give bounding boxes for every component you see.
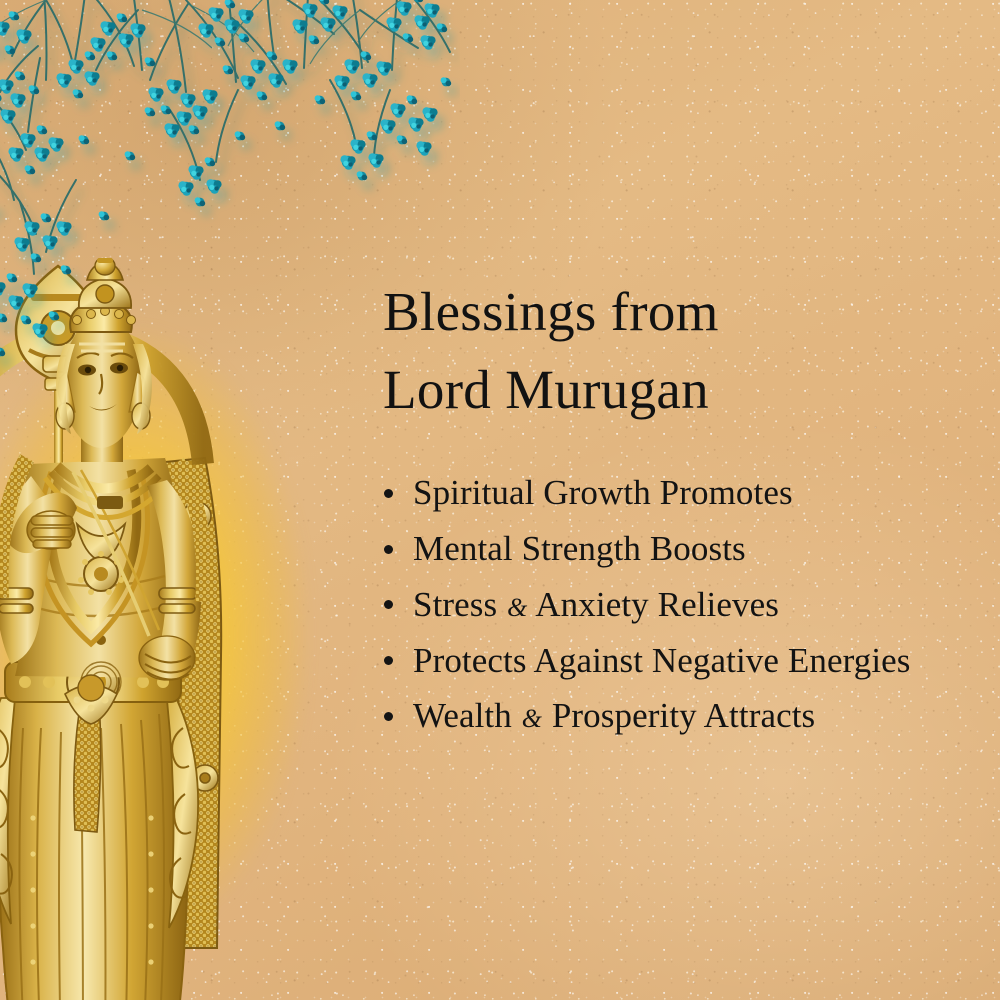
benefit-text-post: Prosperity Attracts: [543, 696, 815, 735]
bullet-icon: [384, 656, 393, 665]
benefit-text-post: Anxiety Relieves: [528, 585, 779, 624]
text-block: Blessings from Lord Murugan Spiritual Gr…: [383, 236, 943, 746]
bullet-icon: [384, 600, 393, 609]
ampersand-glyph: [911, 649, 913, 678]
page-title: Blessings from Lord Murugan: [383, 273, 943, 429]
ampersand-glyph: &: [506, 593, 528, 622]
bullet-icon: [384, 545, 393, 554]
list-item: Spiritual Growth Promotes: [383, 467, 943, 520]
ampersand-glyph: [793, 481, 795, 510]
benefit-text-pre: Mental Strength Boosts: [413, 529, 746, 568]
list-item: Mental Strength Boosts: [383, 523, 943, 576]
benefit-text-pre: Wealth: [413, 696, 521, 735]
list-item: Protects Against Negative Energies: [383, 635, 943, 688]
title-line-2: Lord Murugan: [383, 351, 943, 429]
benefit-text-pre: Stress: [413, 585, 506, 624]
title-line-1: Blessings from: [383, 273, 943, 351]
list-item: Stress & Anxiety Relieves: [383, 579, 943, 632]
poster-canvas: Blessings from Lord Murugan Spiritual Gr…: [0, 0, 1000, 1000]
list-item: Wealth & Prosperity Attracts: [383, 690, 943, 743]
benefit-text-pre: Protects Against Negative Energies: [413, 641, 911, 680]
benefit-text-pre: Spiritual Growth Promotes: [413, 473, 793, 512]
bullet-icon: [384, 489, 393, 498]
ampersand-glyph: [746, 537, 748, 566]
benefits-list: Spiritual Growth Promotes Mental Strengt…: [383, 467, 943, 743]
ampersand-glyph: &: [521, 704, 543, 733]
bullet-icon: [384, 712, 393, 721]
